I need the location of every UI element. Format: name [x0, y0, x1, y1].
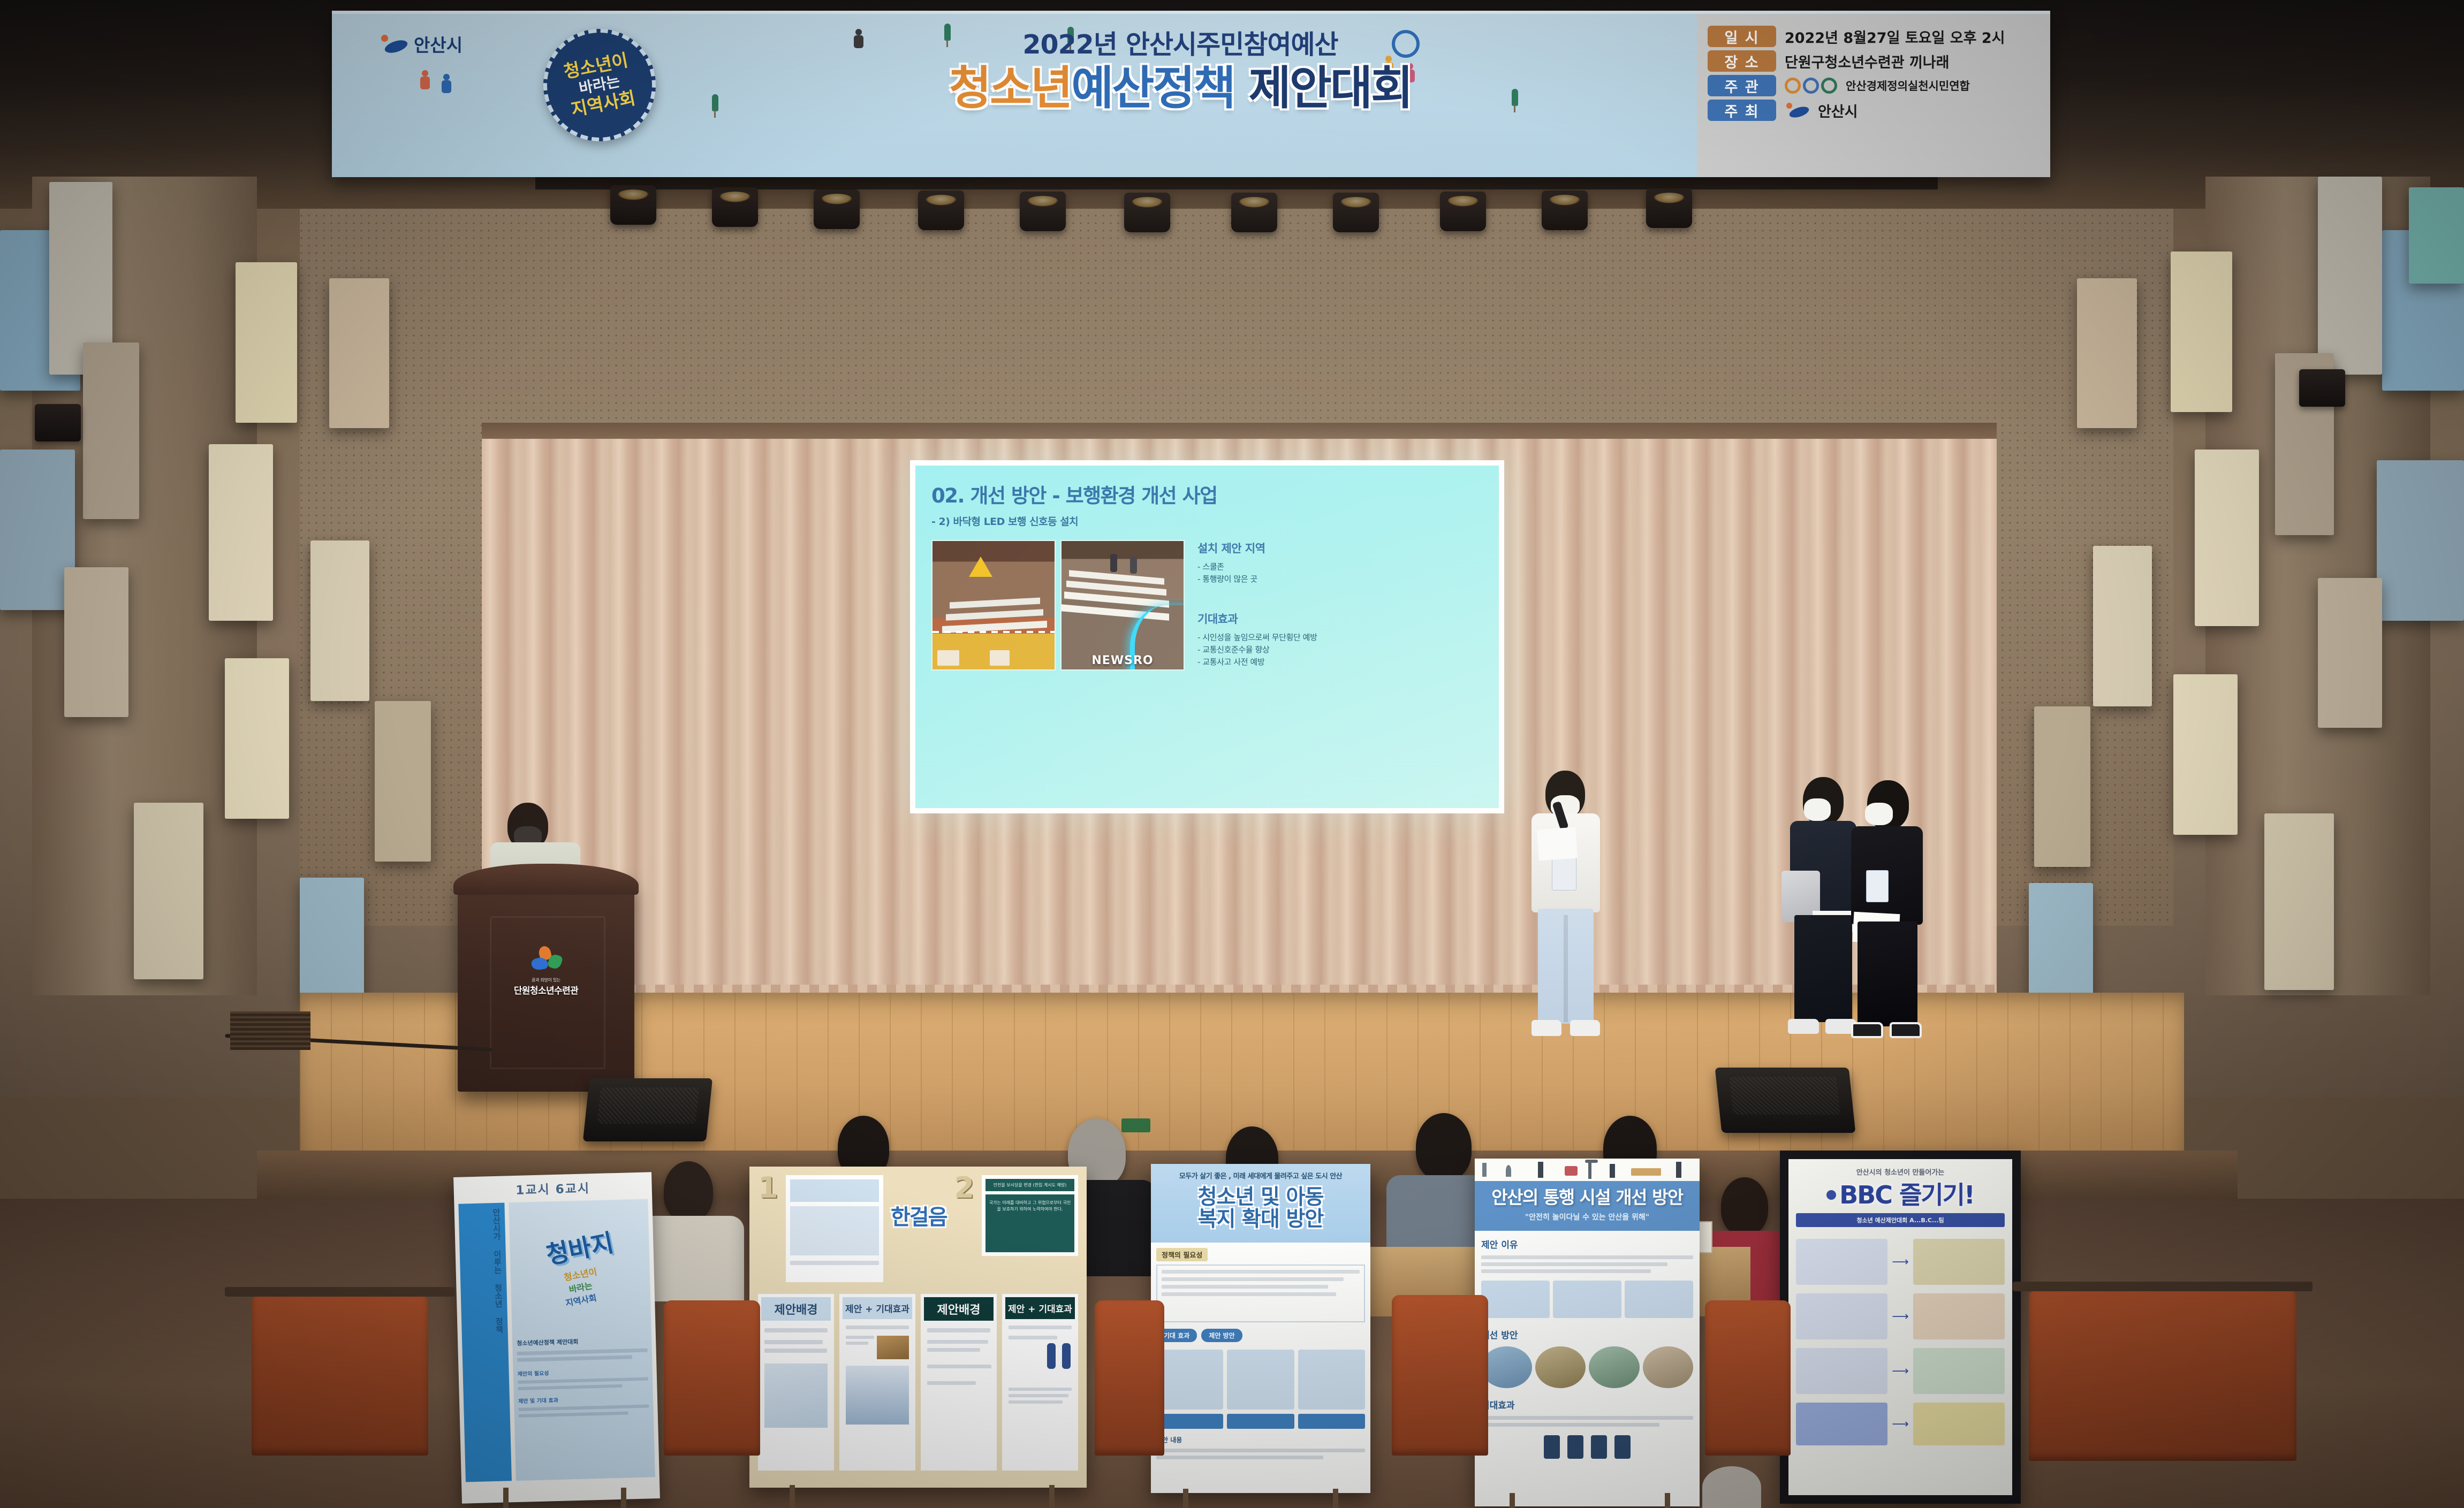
face-mask-icon: [1804, 798, 1831, 821]
wall-block: [2171, 252, 2232, 412]
hall-seat: [1392, 1295, 1488, 1456]
poster-2-number-1: 1: [758, 1175, 778, 1201]
poster-4-sub: "안전히 놀이다닐 수 있는 안산을 위해": [1479, 1212, 1695, 1222]
banner-title-part-2: 예산정책: [1071, 62, 1234, 115]
shoe: [1570, 1020, 1600, 1036]
wall-block: [2195, 450, 2259, 626]
banner-title: 청소년예산정책 제안대회: [674, 65, 1686, 112]
wall-block: [0, 450, 75, 610]
info-value-organizer: 안산시: [1818, 100, 1858, 121]
wall-block: [2029, 883, 2093, 1001]
audience-head: [664, 1161, 713, 1221]
wall-block: [2377, 460, 2464, 621]
poster-3-title-line-1: 청소년 및 아동: [1156, 1187, 1365, 1209]
poster-1-body-item: 제안의 필요성: [518, 1366, 648, 1377]
poster-4-title: 안산의 통행 시설 개선 방안: [1479, 1189, 1695, 1207]
audience-head: [1702, 1466, 1761, 1508]
name-badge: [1552, 856, 1576, 890]
banner-title-part-1: 청소년: [949, 62, 1071, 115]
slide-photo-2-caption: NEWSRO: [1062, 654, 1184, 667]
ansan-city-logo: 안산시: [379, 31, 463, 57]
hall-seat: [664, 1300, 760, 1456]
easel-leg: [503, 1488, 509, 1508]
poster-3[interactable]: 모두가 살기 좋은 , 미래 세대에게 물려주고 싶은 도시 안산 청소년 및 …: [1151, 1164, 1370, 1493]
easel-leg: [790, 1485, 795, 1508]
info-tag: 일 시: [1708, 26, 1776, 47]
wall-block: [236, 262, 297, 423]
teammate-legs: [1858, 921, 1917, 1026]
stage-light: [1124, 193, 1170, 232]
presenter-speaking: [1518, 771, 1614, 1049]
wall-block: [209, 444, 273, 621]
audience-head: [1721, 1177, 1768, 1235]
poster-5-kicker: 안산시의 청소년이 만들어가는: [1796, 1167, 2005, 1177]
slide-section-2-item: - 시인성을 높임으로써 무단횡단 예방: [1197, 631, 1483, 644]
wall-block: [134, 803, 203, 979]
poster-2-col-b-title: 제안 + 기대효과: [843, 1297, 912, 1319]
poster-2-quote-2: 국가는 미래를 대비하고 그 위협으로부터 국민을 보호하기 위하여 노력하여야…: [985, 1194, 1074, 1252]
podium-logo-sub: 꿈과 희망이 있는: [484, 977, 608, 983]
poster-1-body-heading: 청소년예산정책 제안대회: [517, 1336, 647, 1347]
banner-title-block: 2022년 안산시주민참여예산 청소년예산정책 제안대회: [674, 24, 1686, 112]
info-row-organizer: 주 최 안산시: [1708, 100, 2050, 121]
shoe: [1890, 1022, 1922, 1038]
podium: 꿈과 희망이 있는 단원청소년수련관: [458, 878, 634, 1092]
easel-leg: [1333, 1489, 1338, 1508]
wall-block: [2034, 706, 2090, 867]
hall-seat: [2029, 1290, 2296, 1461]
stage-light: [712, 187, 758, 227]
shoe: [1788, 1019, 1819, 1034]
poster-3-kicker: 모두가 살기 좋은 , 미래 세대에게 물려주고 싶은 도시 안산: [1156, 1170, 1365, 1180]
wall-block: [2173, 674, 2238, 835]
easel-leg: [1510, 1493, 1515, 1508]
stage-light: [1646, 188, 1692, 228]
slide-text-column: 설치 제안 지역 - 스쿨존 - 통행량이 많은 곳 기대효과 - 시인성을 높…: [1197, 540, 1483, 671]
slide-subtitle: - 2) 바닥형 LED 보행 신호등 설치: [931, 514, 1483, 528]
podium-logo-text: 단원청소년수련관: [484, 983, 608, 996]
people-logo-icon: [529, 946, 563, 974]
poster-1-body-item: 제안 및 기대 효과: [518, 1393, 649, 1405]
poster-1-side-label: 안산시가 이루는 청소년 정책: [458, 1202, 512, 1482]
poster-2-quote-1: 안전을 보시당을 변경 (한입 게시도 예방): [985, 1179, 1074, 1191]
poster-1[interactable]: 1교시 6교시 안산시가 이루는 청소년 정책 청바지 청소년이 바라는 지역사…: [453, 1172, 660, 1503]
seat-rail: [225, 1287, 455, 1297]
poster-2-col-c-title: 제안배경: [924, 1297, 994, 1321]
poster-5-sub-bar: 청소년 예산제안대회 A...B.C...팀: [1796, 1213, 2005, 1227]
wall-block: [225, 658, 289, 819]
slide-section-1-item: - 통행량이 많은 곳: [1197, 573, 1483, 585]
slide-title: 02. 개선 방안 - 보행환경 개선 사업: [931, 479, 1483, 508]
seat-rail: [2013, 1282, 2313, 1291]
coop-mark-icon: [1785, 78, 1837, 94]
slide-section-1-heading: 설치 제안 지역: [1197, 540, 1483, 556]
stage-light: [1333, 193, 1379, 232]
presentation-slide: 02. 개선 방안 - 보행환경 개선 사업 - 2) 바닥형 LED 보행 신…: [915, 466, 1499, 808]
slide-photos: NEWSRO: [931, 540, 1185, 671]
info-row-place: 장 소 단원구청소년수련관 끼나래: [1708, 50, 2050, 72]
hall-seat: [1095, 1300, 1164, 1456]
wall-block: [375, 701, 431, 862]
podium-logo: 꿈과 희망이 있는 단원청소년수련관: [484, 946, 608, 996]
swoosh-icon: [1785, 103, 1809, 118]
easel-leg: [1183, 1489, 1188, 1508]
wall-block: [83, 342, 139, 519]
hall-seat: [252, 1295, 428, 1456]
stage-light: [1020, 192, 1066, 231]
auditorium-photo: 안산시 청소년이 바라는 지역사회 안산경제정의실천시민연합 2022년 안산시…: [0, 0, 2464, 1508]
poster-2-col-a-title: 제안배경: [761, 1297, 831, 1321]
info-value-place: 단원구청소년수련관 끼나래: [1785, 51, 1949, 72]
face-mask-icon: [1865, 803, 1893, 825]
poster-4-section-3: 기대효과: [1481, 1398, 1693, 1411]
wall-block: [64, 567, 128, 717]
wall-speaker-left: [35, 404, 81, 441]
shoe: [1851, 1022, 1883, 1038]
stage-light: [814, 189, 860, 229]
poster-5-title: BBC 즐기기!: [1839, 1182, 1974, 1208]
wall-block: [2318, 578, 2382, 728]
info-value-date: 2022년 8월27일 토요일 오후 2시: [1785, 26, 2005, 47]
person-icon: [420, 70, 430, 94]
teammate-2: [1836, 780, 1938, 1048]
banner-title-part-3: 제안대회: [1249, 62, 1412, 115]
slide-body: NEWSRO 설치 제안 지역 - 스쿨존 - 통행량이 많은 곳 기대효과 -…: [931, 540, 1483, 671]
info-row-host: 주 관 안산경제정의실천시민연합: [1708, 75, 2050, 96]
event-banner: 안산시 청소년이 바라는 지역사회 안산경제정의실천시민연합 2022년 안산시…: [332, 11, 2050, 177]
wall-block: [2093, 546, 2152, 706]
stage-light: [610, 185, 656, 225]
poster-5[interactable]: 안산시의 청소년이 만들어가는 BBC 즐기기! 청소년 예산제안대회 A...…: [1780, 1151, 2021, 1504]
stage-light: [918, 191, 964, 230]
script-paper: [1537, 827, 1578, 861]
slide-photo-crosswalk-led: [931, 540, 1056, 671]
poster-2[interactable]: 1 한걸음 2 안전을 보시당을 변경 (한입 게시도 예방) 국가는 미래를 …: [749, 1167, 1087, 1488]
info-tag: 장 소: [1708, 50, 1776, 72]
audience-head: [1416, 1113, 1472, 1180]
poster-3-badge-2: 제안 방안: [1201, 1329, 1242, 1342]
banner-info-panel: 일 시 2022년 8월27일 토요일 오후 2시 장 소 단원구청소년수련관 …: [1697, 14, 2050, 177]
banner-kicker: 2022년 안산시주민참여예산: [674, 24, 1686, 62]
swoosh-icon: [379, 35, 408, 53]
wall-block: [2077, 278, 2137, 428]
slide-section-2-item: - 교통사고 사전 예방: [1197, 656, 1483, 668]
poster-3-title-line-2: 복지 확대 방안: [1156, 1209, 1365, 1231]
wall-block: [300, 878, 364, 1001]
poster-2-col-d-title: 제안 + 기대효과: [1005, 1297, 1075, 1319]
shoe: [1532, 1020, 1561, 1036]
poster-2-title: 한걸음: [891, 1200, 946, 1231]
stage-light: [1440, 192, 1486, 231]
info-tag: 주 관: [1708, 75, 1776, 96]
poster-4-section-1: 제안 이유: [1481, 1237, 1693, 1251]
hall-seat: [1705, 1300, 1791, 1456]
easel-leg: [1049, 1485, 1055, 1508]
stage-light: [1231, 193, 1277, 232]
ansan-city-logo-label: 안산시: [414, 31, 463, 57]
wall-block: [310, 540, 369, 701]
poster-3-section-1: 정책의 필요성: [1156, 1248, 1208, 1261]
wall-block: [2409, 187, 2464, 284]
poster-3-section-2: 제안 내용: [1156, 1435, 1365, 1444]
slide-section-2-item: - 교통신호준수율 향상: [1197, 644, 1483, 656]
info-value-host: 안산경제정의실천시민연합: [1846, 78, 1970, 94]
easel-leg: [1665, 1493, 1670, 1508]
info-row-date: 일 시 2022년 8월27일 토요일 오후 2시: [1708, 26, 2050, 47]
info-tag: 주 최: [1708, 100, 1776, 121]
slide-section-1-item: - 스쿨존: [1197, 561, 1483, 573]
poster-4-section-2: 개선 방안: [1481, 1328, 1693, 1341]
wall-block: [329, 278, 389, 428]
person-icon: [442, 74, 451, 97]
wall-speaker-right: [2299, 369, 2345, 407]
projection-screen: 02. 개선 방안 - 보행환경 개선 사업 - 2) 바닥형 LED 보행 신…: [910, 460, 1504, 813]
floor-vent: [230, 1011, 310, 1050]
stage-light: [1542, 191, 1588, 230]
slide-photo-crosswalk-news: NEWSRO: [1060, 540, 1185, 671]
easel-leg: [621, 1488, 626, 1508]
wall-block: [2318, 177, 2382, 375]
wall-block: [2264, 813, 2334, 990]
poster-4[interactable]: 안산의 통행 시설 개선 방안 "안전히 놀이다닐 수 있는 안산을 위해" 제…: [1475, 1159, 1700, 1506]
slide-section-2-heading: 기대효과: [1197, 611, 1483, 627]
poster-2-number-2: 2: [954, 1175, 974, 1201]
name-badge: [1866, 870, 1889, 902]
poster-1-top-label: 1교시 6교시: [458, 1176, 648, 1199]
stamp-badge: 청소년이 바라는 지역사회: [534, 19, 665, 151]
